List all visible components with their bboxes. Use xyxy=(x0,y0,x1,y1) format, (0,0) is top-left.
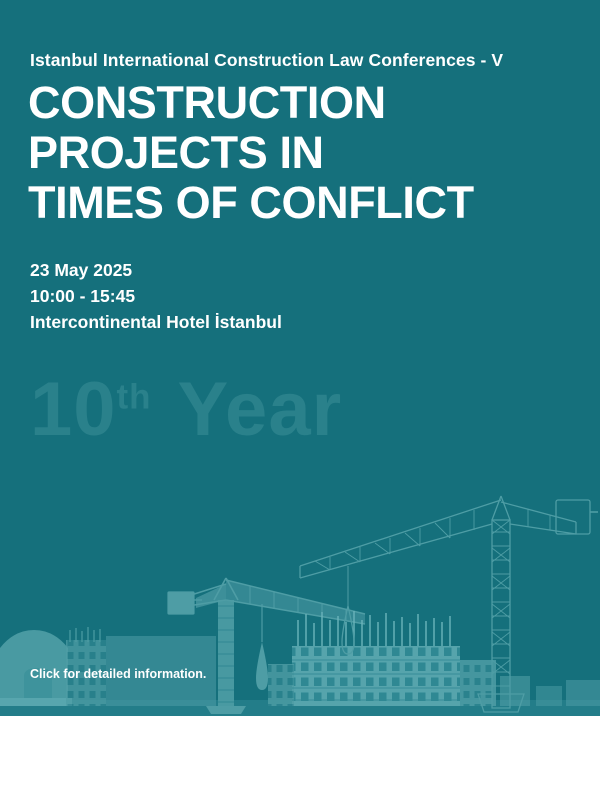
poster-text-content: Istanbul International Construction Law … xyxy=(0,0,600,716)
poster-main-panel: 10thYear xyxy=(0,0,600,716)
poster-footer: Schellenberg Wittmer İstanbul Bilgi Univ… xyxy=(0,716,600,800)
page-title: CONSTRUCTION PROJECTS IN TIMES OF CONFLI… xyxy=(28,80,474,230)
event-time: 10:00 - 15:45 xyxy=(30,284,282,310)
headline-line-2: PROJECTS IN xyxy=(28,130,474,175)
headline-line-1: CONSTRUCTION xyxy=(28,80,474,125)
headline-line-3: TIMES OF CONFLICT xyxy=(28,180,474,225)
event-details: 23 May 2025 10:00 - 15:45 Intercontinent… xyxy=(30,258,282,336)
conference-poster: 10thYear xyxy=(0,0,600,800)
detailed-information-link[interactable]: Click for detailed information. xyxy=(30,667,206,681)
conference-series-label: Istanbul International Construction Law … xyxy=(30,50,503,71)
event-venue: Intercontinental Hotel İstanbul xyxy=(30,310,282,336)
event-date: 23 May 2025 xyxy=(30,258,282,284)
